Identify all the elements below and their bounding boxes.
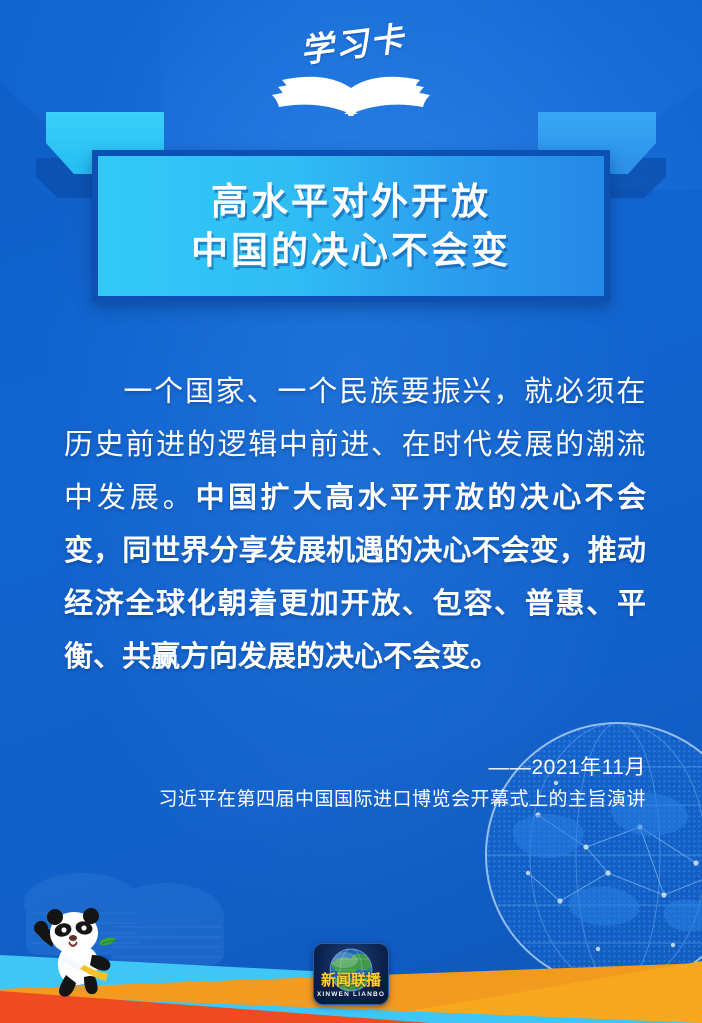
title-ribbon: 高水平对外开放 中国的决心不会变 bbox=[0, 112, 702, 312]
brand-header: 学习卡 bbox=[0, 24, 702, 118]
xinwen-lianbo-logo: 新闻联播 XINWEN LIANBO bbox=[313, 943, 389, 1005]
attribution: ——2021年11月 习近平在第四届中国国际进口博览会开幕式上的主旨演讲 bbox=[64, 752, 646, 816]
title-line-2: 中国的决心不会变 bbox=[191, 227, 511, 274]
attribution-date: ——2021年11月 bbox=[64, 752, 646, 784]
panda-mascot-icon bbox=[22, 903, 142, 999]
news-logo-cn: 新闻联播 bbox=[321, 972, 381, 989]
network-globe-icon bbox=[468, 705, 702, 1005]
quote-body: 一个国家、一个民族要振兴，就必须在历史前进的逻辑中前进、在时代发展的潮流中发展。… bbox=[64, 366, 646, 684]
poster-root: 学习卡 高水平对外开放 中国的决心不会变 bbox=[0, 0, 702, 1023]
open-book-icon bbox=[256, 64, 446, 116]
title-line-1: 高水平对外开放 bbox=[211, 178, 491, 225]
news-logo-en: XINWEN LIANBO bbox=[317, 989, 385, 1001]
title-banner: 高水平对外开放 中国的决心不会变 bbox=[92, 150, 610, 302]
attribution-source: 习近平在第四届中国国际进口博览会开幕式上的主旨演讲 bbox=[64, 784, 646, 816]
